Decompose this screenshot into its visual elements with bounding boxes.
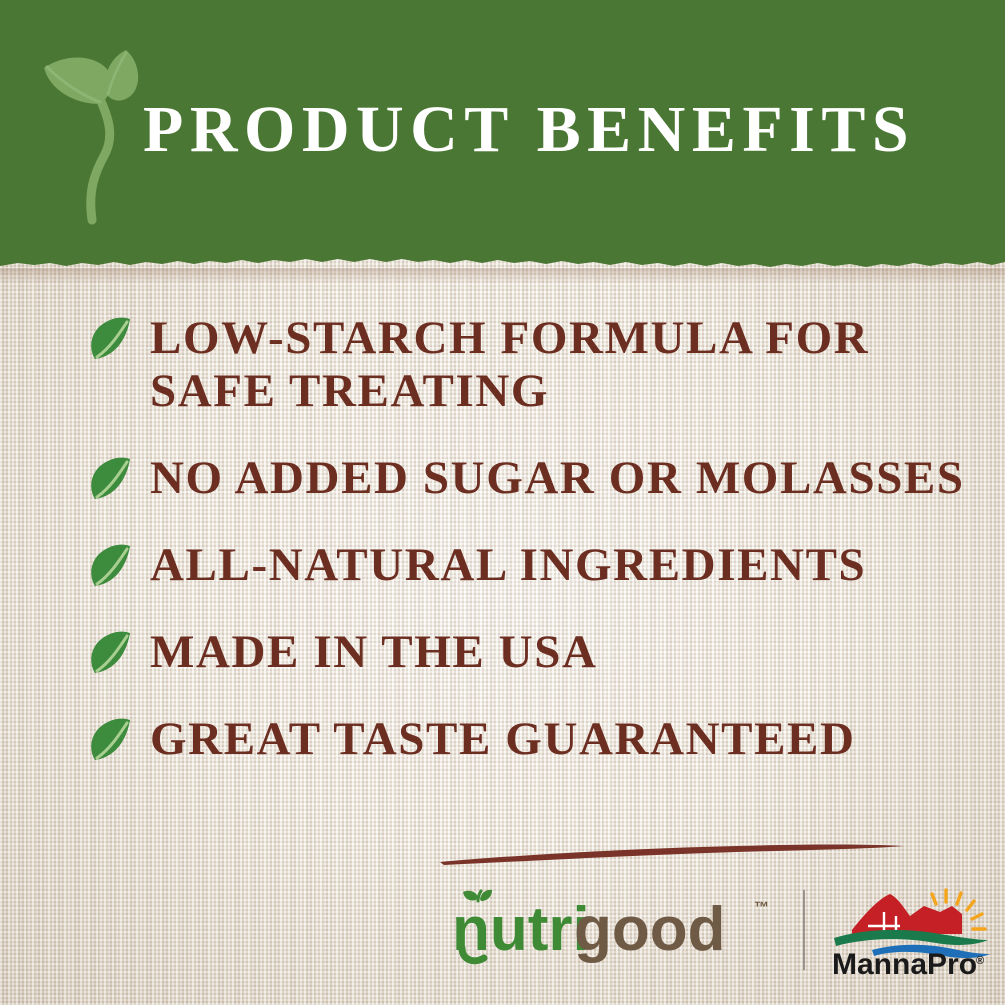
footer-logos: nutri good ™ [0,882,1005,982]
leaf-icon [86,630,134,676]
benefits-list: LOW-STARCH FORMULA FOR SAFE TREATING NO … [86,312,966,766]
benefit-item: NO ADDED SUGAR OR MOLASSES [86,452,966,505]
benefit-item: GREAT TASTE GUARANTEED [86,713,966,766]
benefit-item: LOW-STARCH FORMULA FOR SAFE TREATING [86,312,966,418]
benefit-label: GREAT TASTE GUARANTEED [150,713,966,766]
brush-underline [436,838,906,866]
registered-symbol: ® [976,955,984,967]
benefit-label: NO ADDED SUGAR OR MOLASSES [150,452,966,505]
leaf-icon [86,456,134,502]
mannapro-text: MannaPro [832,948,977,978]
leaf-icon [86,543,134,589]
product-benefits-infographic: PRODUCT BENEFITS LOW-STARCH FORMULA FOR … [0,0,1005,1005]
logo-divider [803,890,805,970]
leaf-icon [86,316,134,362]
header-panel: PRODUCT BENEFITS [0,0,1005,272]
nutrigood-logo: nutri good ™ [452,888,784,970]
nutrigood-text-good: good [574,895,726,964]
page-title: PRODUCT BENEFITS [143,88,943,172]
benefit-item: MADE IN THE USA [86,626,966,679]
trademark-symbol: ™ [754,899,769,916]
nutrigood-text-nutri: nutri [452,895,590,964]
benefit-label: ALL-NATURAL INGREDIENTS [150,539,966,592]
benefit-item: ALL-NATURAL INGREDIENTS [86,539,966,592]
leaf-icon [86,717,134,763]
benefit-label: MADE IN THE USA [150,626,966,679]
benefit-label: LOW-STARCH FORMULA FOR SAFE TREATING [150,312,966,418]
mannapro-logo: MannaPro ® [828,884,994,978]
